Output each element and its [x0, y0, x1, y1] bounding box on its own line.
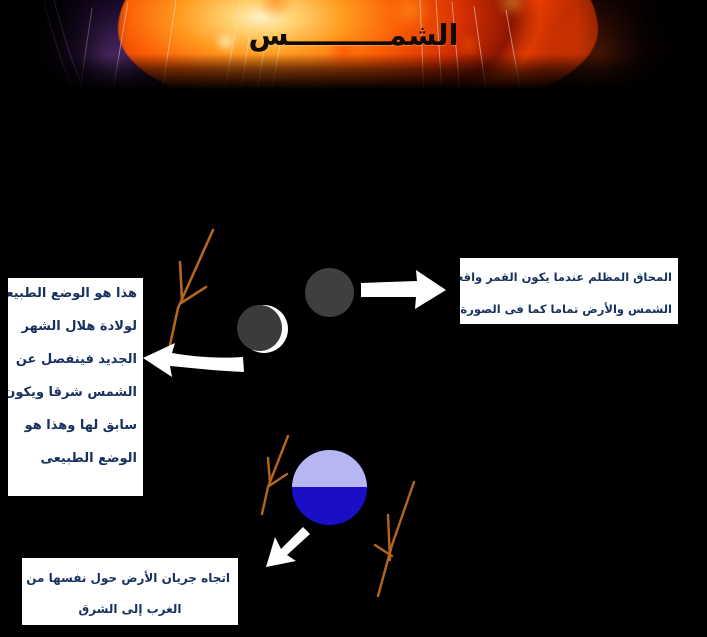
arrow-left-to-caption: [143, 343, 244, 377]
caption-line: سابق لها وهذا هو: [12, 419, 139, 432]
sun-photo-banner: الشمــــــــــس: [0, 0, 707, 112]
branch-mark-earth-left: [262, 436, 288, 514]
sun-title-label: الشمــــــــــس: [0, 18, 707, 52]
caption-line: الشمس شرقا ويكون: [12, 386, 139, 399]
caption-line: الجديد فينفصل عن: [12, 353, 139, 366]
caption-line: الغرب إلى الشرق: [30, 603, 230, 615]
dark-moon-disc: [305, 268, 354, 317]
diagram-canvas: الشمــــــــــس: [0, 0, 707, 637]
earth-sphere: [292, 450, 367, 525]
arrow-right-to-caption: [361, 270, 446, 309]
branch-mark-moon-left: [170, 230, 213, 345]
caption-line: لولادة هلال الشهر: [12, 320, 139, 333]
earth-dark-hemisphere: [292, 487, 367, 525]
arrow-down-left-rotation: [266, 527, 310, 567]
caption-earth-rotation: اتجاه جريان الأرض حول نفسها من الغرب إلى…: [22, 558, 238, 625]
caption-line: هذا هو الوضع الطبيعى: [12, 287, 139, 300]
earth-lit-hemisphere: [292, 450, 367, 487]
caption-line: الوضع الطبيعى: [12, 452, 139, 465]
caption-line: اتجاه جريان الأرض حول نفسها من: [30, 572, 230, 584]
caption-natural-position: هذا هو الوضع الطبيعى لولادة هلال الشهر ا…: [8, 278, 143, 496]
branch-mark-earth-right: [375, 482, 414, 596]
caption-dark-conjunction: المحاق المظلم عندما يكون القمر واقعا بين…: [460, 258, 678, 324]
caption-line: الشمس والأرض تماما كما فى الصورة: [466, 304, 672, 316]
horizon-fade: [0, 54, 707, 112]
caption-line: المحاق المظلم عندما يكون القمر واقعا بين: [466, 272, 672, 284]
crescent-moon-disc: [240, 305, 288, 353]
